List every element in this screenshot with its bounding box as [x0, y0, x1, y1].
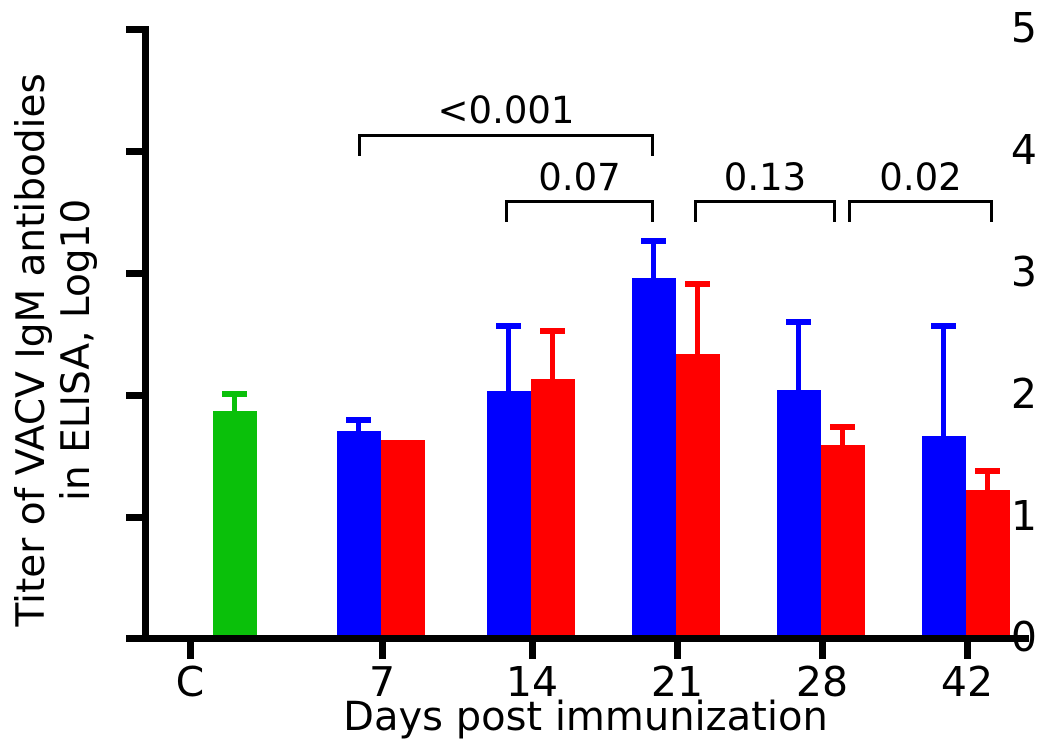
errorbar-day21-blue — [641, 238, 666, 280]
y-axis-line — [142, 26, 149, 642]
y-tick-0 — [126, 635, 143, 642]
y-tick-label-3: 3 — [919, 252, 1037, 293]
x-tick-14 — [529, 642, 536, 659]
errorbar-day14-red — [540, 328, 565, 381]
errorbar-control-green — [222, 391, 247, 413]
bar-day7-red — [381, 440, 425, 635]
chart-figure: 5 4 3 2 1 0 C 7 14 21 28 42 Days post im… — [0, 0, 1037, 742]
y-tick-3 — [126, 270, 143, 277]
bar-control-green — [213, 411, 257, 635]
sig-label-2: 0.13 — [692, 159, 838, 196]
x-tick-7 — [379, 642, 386, 659]
bar-day28-blue — [777, 390, 821, 635]
bar-day21-blue — [632, 278, 676, 635]
errorbar-day42-red — [975, 468, 1000, 492]
sig-label-0: <0.001 — [356, 92, 656, 129]
sig-label-3: 0.02 — [846, 159, 995, 196]
bar-day28-red — [821, 445, 865, 635]
errorbar-day14-blue — [496, 323, 521, 393]
errorbar-day21-red — [685, 281, 710, 356]
x-axis-title: Days post immunization — [142, 696, 1029, 738]
sig-bracket-3 — [848, 200, 993, 222]
x-tick-c — [187, 642, 194, 659]
errorbar-day42-blue — [931, 323, 956, 438]
errorbar-day7-blue — [346, 417, 371, 433]
bar-day42-red — [966, 490, 1010, 635]
y-axis-title-line1: Titer of VACV IgM antibodies — [9, 73, 54, 626]
bar-day14-blue — [487, 391, 531, 635]
errorbar-day28-blue — [786, 319, 811, 392]
x-tick-28 — [819, 642, 826, 659]
sig-bracket-2 — [694, 200, 836, 222]
y-axis-title: Titer of VACV IgM antibodies in ELISA, L… — [10, 40, 100, 660]
y-tick-5 — [126, 26, 143, 33]
sig-bracket-1 — [505, 200, 654, 222]
y-tick-4 — [126, 148, 143, 155]
y-tick-label-5: 5 — [919, 8, 1037, 49]
x-tick-21 — [674, 642, 681, 659]
y-tick-2 — [126, 392, 143, 399]
x-tick-42 — [964, 642, 971, 659]
bar-day21-red — [676, 354, 720, 635]
bar-day42-blue — [922, 436, 966, 635]
sig-label-1: 0.07 — [503, 159, 656, 196]
y-axis-title-line2: in ELISA, Log10 — [55, 40, 100, 660]
y-tick-1 — [126, 514, 143, 521]
errorbar-day28-red — [830, 424, 855, 447]
bar-day14-red — [531, 379, 575, 635]
x-axis-line — [142, 635, 1029, 642]
bar-day7-blue — [337, 431, 381, 635]
sig-bracket-0 — [358, 134, 654, 156]
